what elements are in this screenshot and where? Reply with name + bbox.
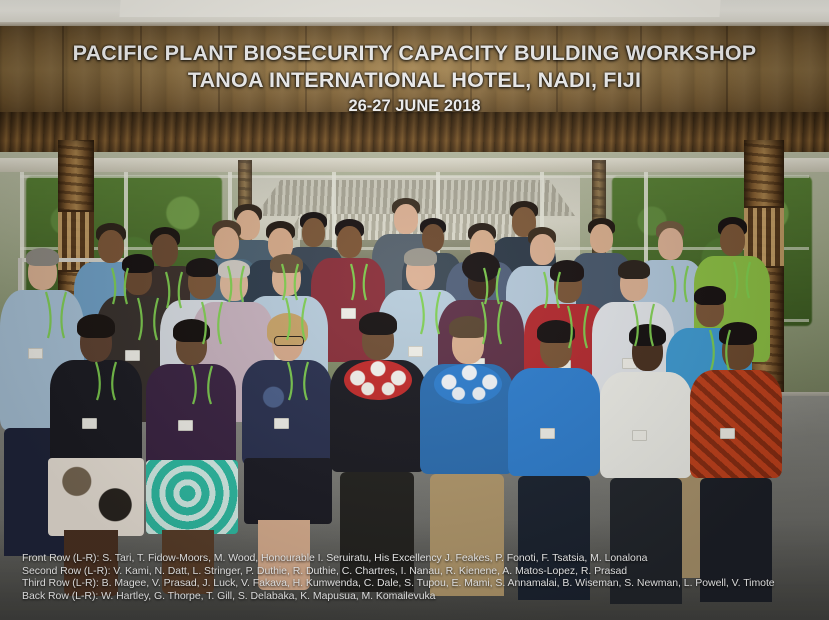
glass-facade-beam — [0, 158, 829, 172]
ceiling-panel — [119, 0, 720, 17]
caption-front-row: Front Row (L-R): S. Tari, T. Fidow-Moors… — [22, 552, 812, 564]
title-overlay: PACIFIC PLANT BIOSECURITY CAPACITY BUILD… — [0, 40, 829, 118]
garland-red — [344, 360, 412, 400]
garland-blue — [434, 364, 502, 404]
caption-back-row: Back Row (L-R): W. Hartley, G. Thorpe, T… — [22, 590, 812, 602]
venue-line: TANOA INTERNATIONAL HOTEL, NADI, FIJI — [0, 67, 829, 94]
caption-third-row: Third Row (L-R): B. Magee, V. Prasad, J.… — [22, 577, 812, 589]
skirt — [48, 458, 144, 536]
caption-second-row: Second Row (L-R): V. Kami, N. Datt, L. S… — [22, 565, 812, 577]
glasses — [274, 336, 304, 346]
group-photo: PACIFIC PLANT BIOSECURITY CAPACITY BUILD… — [0, 0, 829, 620]
workshop-title-line1: PACIFIC PLANT BIOSECURITY CAPACITY BUILD… — [0, 40, 829, 67]
caption-overlay: Front Row (L-R): S. Tari, T. Fidow-Moors… — [22, 552, 812, 602]
skirt — [146, 460, 238, 534]
skirt — [244, 458, 332, 524]
workshop-dates: 26-27 JUNE 2018 — [0, 94, 829, 118]
